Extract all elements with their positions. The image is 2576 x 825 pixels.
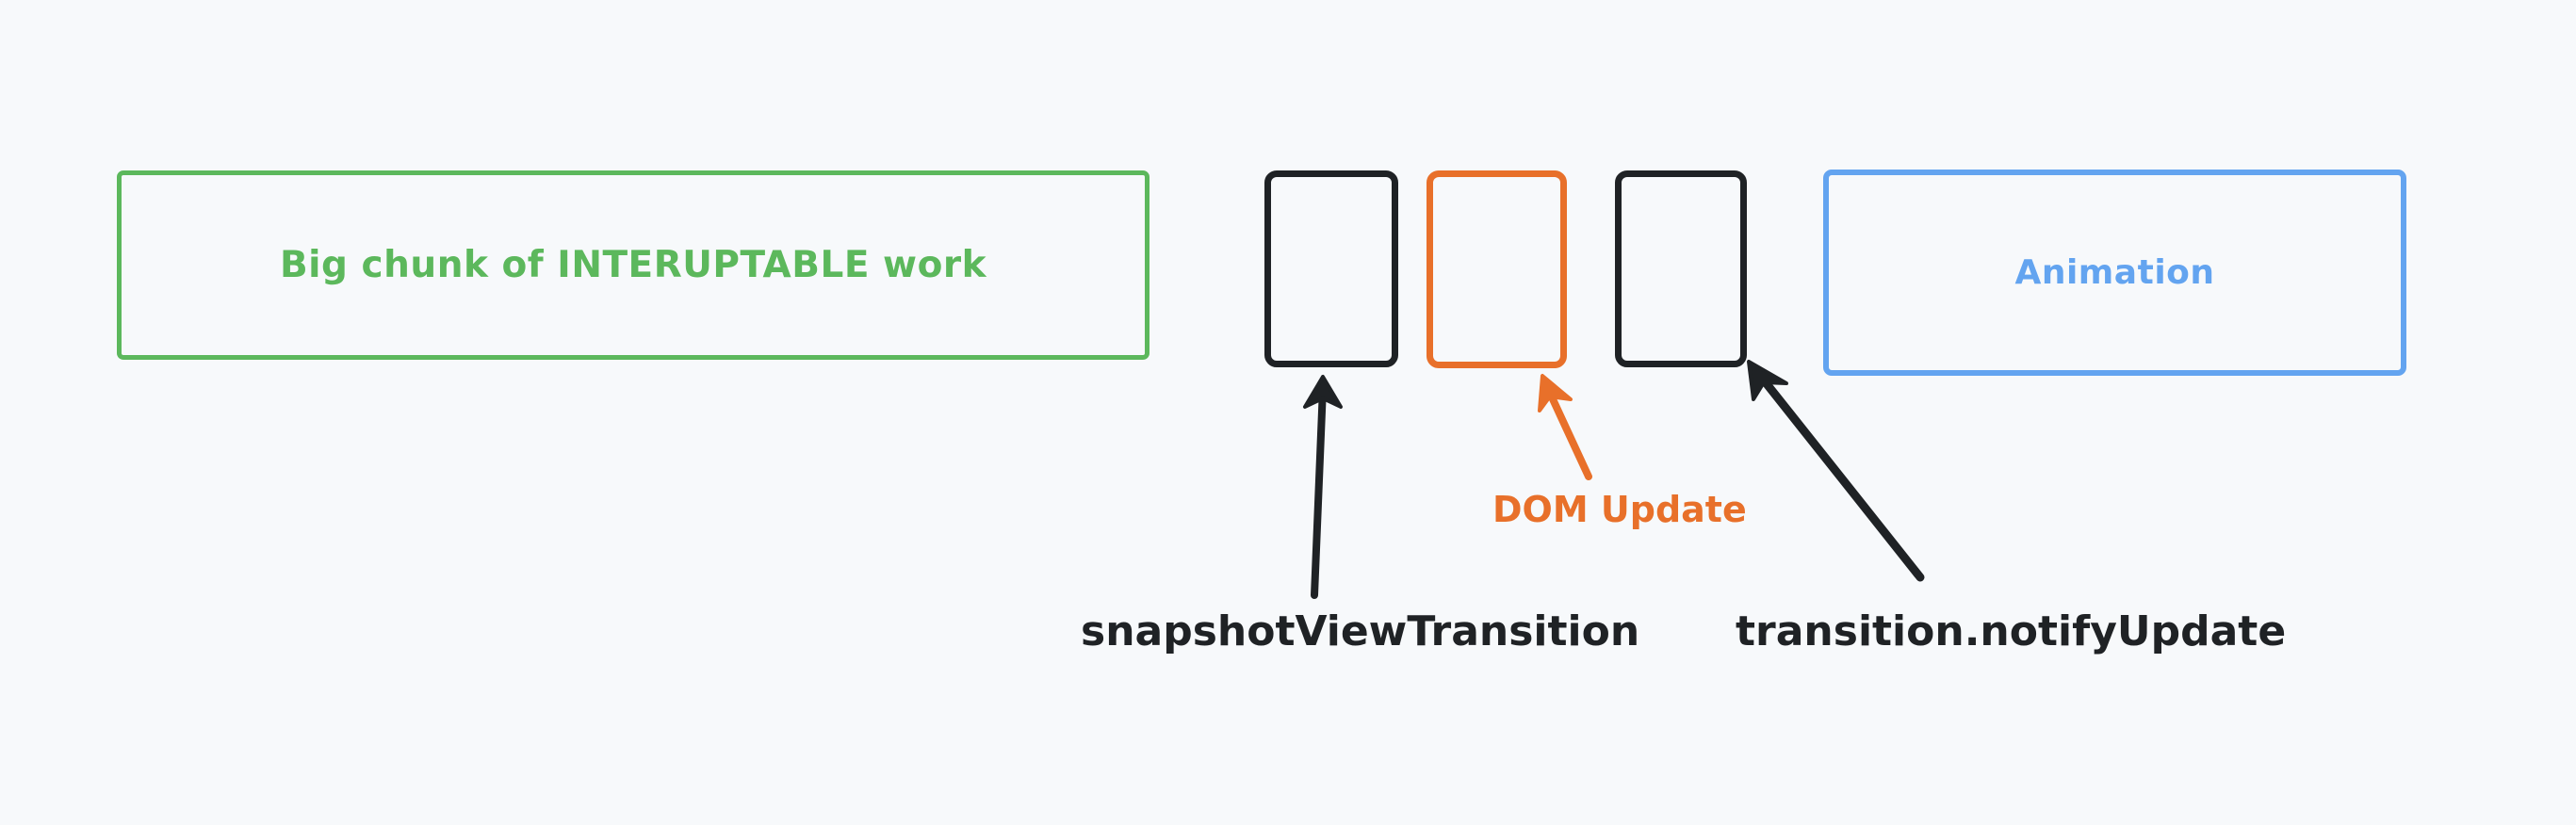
block-interruptable-work-label: Big chunk of INTERUPTABLE work <box>280 244 986 286</box>
arrow-transition-notify-update <box>1749 362 1920 577</box>
annotation-transition-notify-update: transition.notifyUpdate <box>1736 607 2286 655</box>
diagram-canvas: Big chunk of INTERUPTABLE work Animation <box>0 0 2576 825</box>
arrow-snapshot-view-transition <box>1305 377 1341 595</box>
annotation-snapshot-view-transition: snapshotViewTransition <box>1081 607 1639 655</box>
block-interruptable-work[interactable]: Big chunk of INTERUPTABLE work <box>117 170 1149 360</box>
block-animation-label: Animation <box>2014 253 2214 292</box>
block-frame-2-dom-update[interactable] <box>1427 170 1567 368</box>
block-frame-3[interactable] <box>1615 170 1747 367</box>
arrow-dom-update <box>1540 376 1589 477</box>
block-animation[interactable]: Animation <box>1823 170 2406 376</box>
block-frame-1[interactable] <box>1264 170 1398 367</box>
annotation-dom-update: DOM Update <box>1492 489 1747 530</box>
arrow-layer <box>0 0 2576 825</box>
